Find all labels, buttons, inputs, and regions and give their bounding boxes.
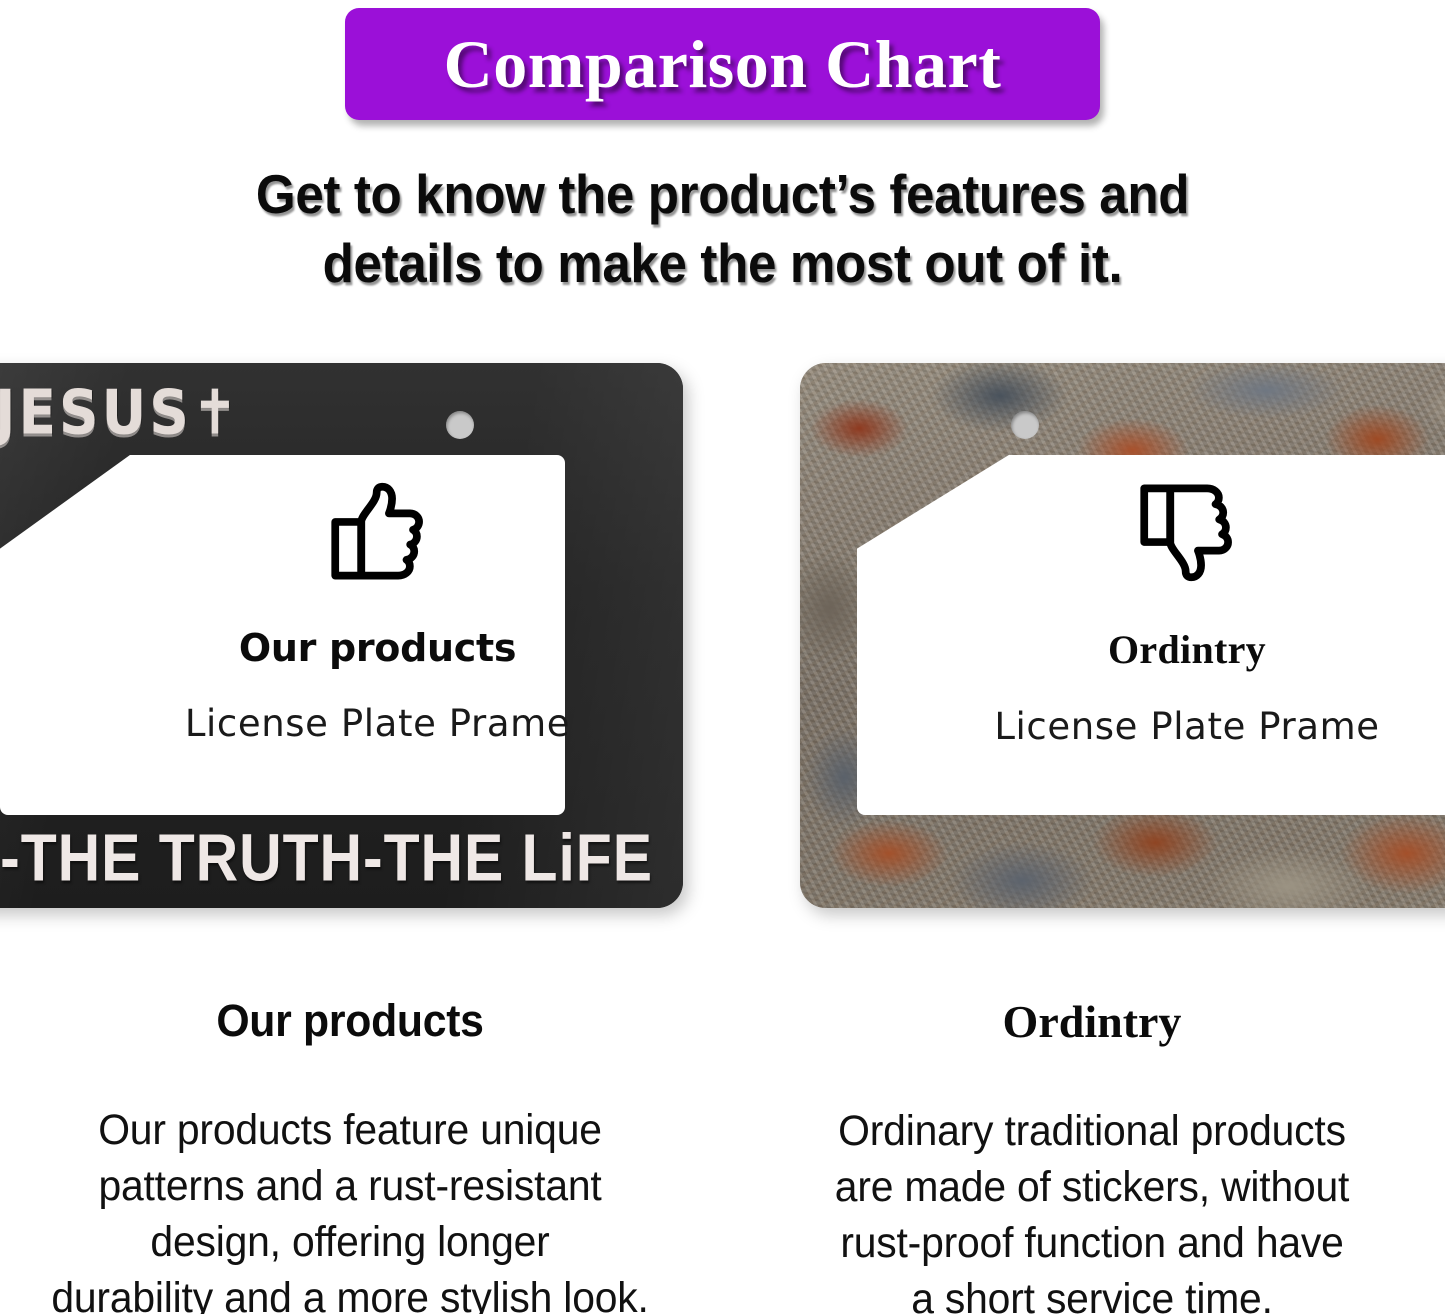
ordinary-product-label: Ordintry [1108,626,1266,673]
desc-line: Our products feature unique [27,1103,673,1159]
comparison-chart-page: Comparison Chart Get to know the product… [0,0,1445,1314]
ordinary-product-description-column: Ordintry Ordinary traditional products a… [752,995,1432,1314]
desc-line: design, offering longer [27,1215,673,1271]
our-product-description-column: Our products Our products feature unique… [10,995,690,1314]
mounting-hole-left [446,411,474,439]
cross-icon: ✝ [192,376,241,448]
ordinary-product-desc-body: Ordinary traditional products are made o… [769,1104,1415,1314]
plate-bottom-band-left: -THE TRUTH-THE LiFE [0,812,683,904]
thumbs-up-icon [324,480,432,584]
desc-line: rust-proof function and have [769,1216,1415,1272]
desc-line: are made of stickers, without [769,1160,1415,1216]
our-product-desc-body: Our products feature unique patterns and… [27,1103,673,1314]
our-product-window-content: Our products License Plate Prame [95,480,660,745]
thumbs-down-icon [1133,480,1241,584]
desc-line: patterns and a rust-resistant [27,1159,673,1215]
our-product-type: License Plate Prame [185,702,570,745]
ordinary-product-window-content: Ordintry License Plate Prame [857,480,1445,748]
desc-line: Ordinary traditional products [769,1104,1415,1160]
ordinary-product-type: License Plate Prame [994,705,1379,748]
plate-top-band-left: JESUS ✝ [0,369,683,455]
frame-top-slogan: JESUS [0,376,192,448]
desc-line: a short service time. [769,1272,1415,1314]
our-product-desc-heading: Our products [27,995,673,1047]
mounting-hole-right [1011,411,1039,439]
ordinary-product-desc-heading: Ordintry [752,995,1432,1048]
desc-line: durability and a more stylish look. [27,1271,673,1314]
frame-bottom-slogan: -THE TRUTH-THE LiFE [0,820,653,897]
our-product-label: Our products [239,626,516,670]
